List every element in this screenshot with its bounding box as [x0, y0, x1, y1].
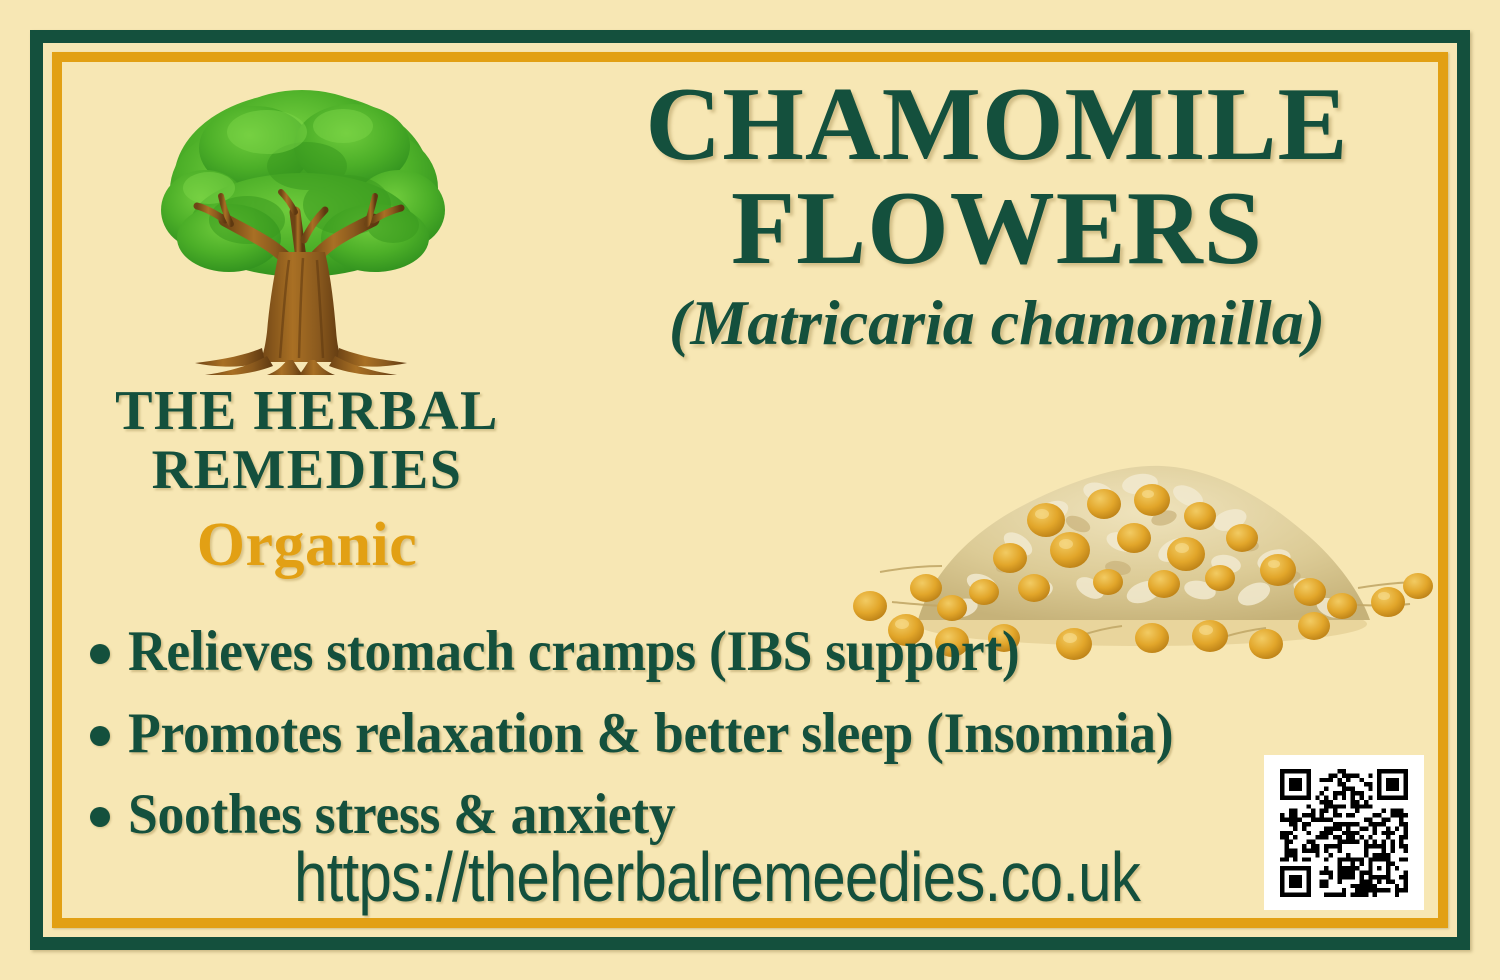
brand-name: THE HERBAL REMEDIES [72, 382, 542, 500]
bullet-icon [90, 807, 110, 827]
tree-logo [147, 70, 457, 375]
organic-badge: Organic [72, 510, 542, 581]
bullet-icon [90, 644, 110, 664]
product-title-line-2: FLOWERS [502, 176, 1492, 280]
label-content: THE HERBAL REMEDIES Organic CHAMOMILE FL… [62, 62, 1438, 918]
benefit-text: Promotes relaxation & better sleep (Inso… [128, 699, 1173, 769]
latin-name: (Matricaria chamomilla) [502, 286, 1492, 360]
product-title: CHAMOMILE FLOWERS [502, 72, 1492, 280]
qr-code[interactable] [1264, 755, 1424, 910]
benefit-text: Relieves stomach cramps (IBS support) [128, 617, 1019, 687]
list-item: Relieves stomach cramps (IBS support) [90, 617, 1490, 687]
brand-line-2: REMEDIES [72, 441, 542, 500]
product-title-line-1: CHAMOMILE [502, 72, 1492, 176]
bullet-icon [90, 726, 110, 746]
website-url[interactable]: https://theherbalremeedies.co.uk [257, 837, 1177, 917]
brand-line-1: THE HERBAL [72, 382, 542, 441]
page-title: CHAMOMILE FLOWERS (Matricaria chamomilla… [502, 72, 1492, 360]
product-label: THE HERBAL REMEDIES Organic CHAMOMILE FL… [0, 0, 1500, 980]
